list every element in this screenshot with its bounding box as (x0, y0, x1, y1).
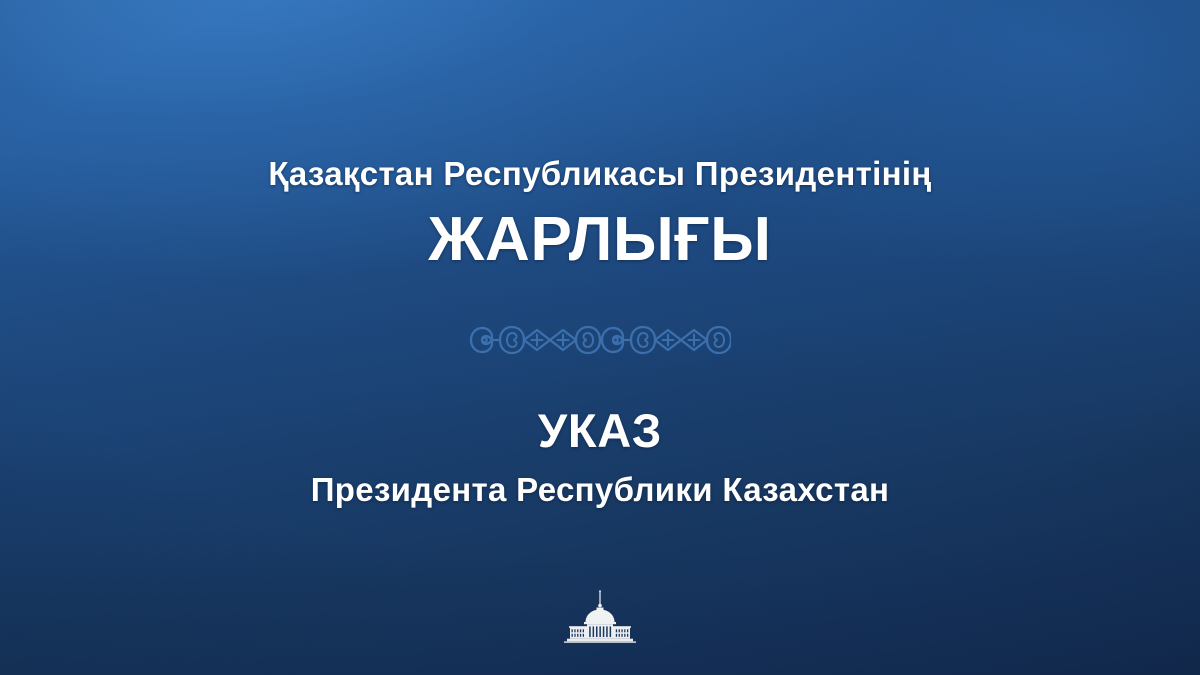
banner-content: Қазақстан Республикасы Президентінің ЖАР… (0, 0, 1200, 675)
ornament-divider (0, 322, 1200, 358)
emblem-container (0, 589, 1200, 644)
akorda-palace-icon (560, 589, 640, 644)
kazakh-superline: Қазақстан Республикасы Президентінің (0, 156, 1200, 193)
presidential-decree-banner: Қазақстан Республикасы Президентінің ЖАР… (0, 0, 1200, 675)
kazakh-decree-title: ЖАРЛЫҒЫ (0, 205, 1200, 274)
kazakh-ornament-icon (469, 322, 731, 358)
russian-decree-title: УКАЗ (0, 405, 1200, 458)
russian-subline: Президента Республики Казахстан (0, 472, 1200, 509)
